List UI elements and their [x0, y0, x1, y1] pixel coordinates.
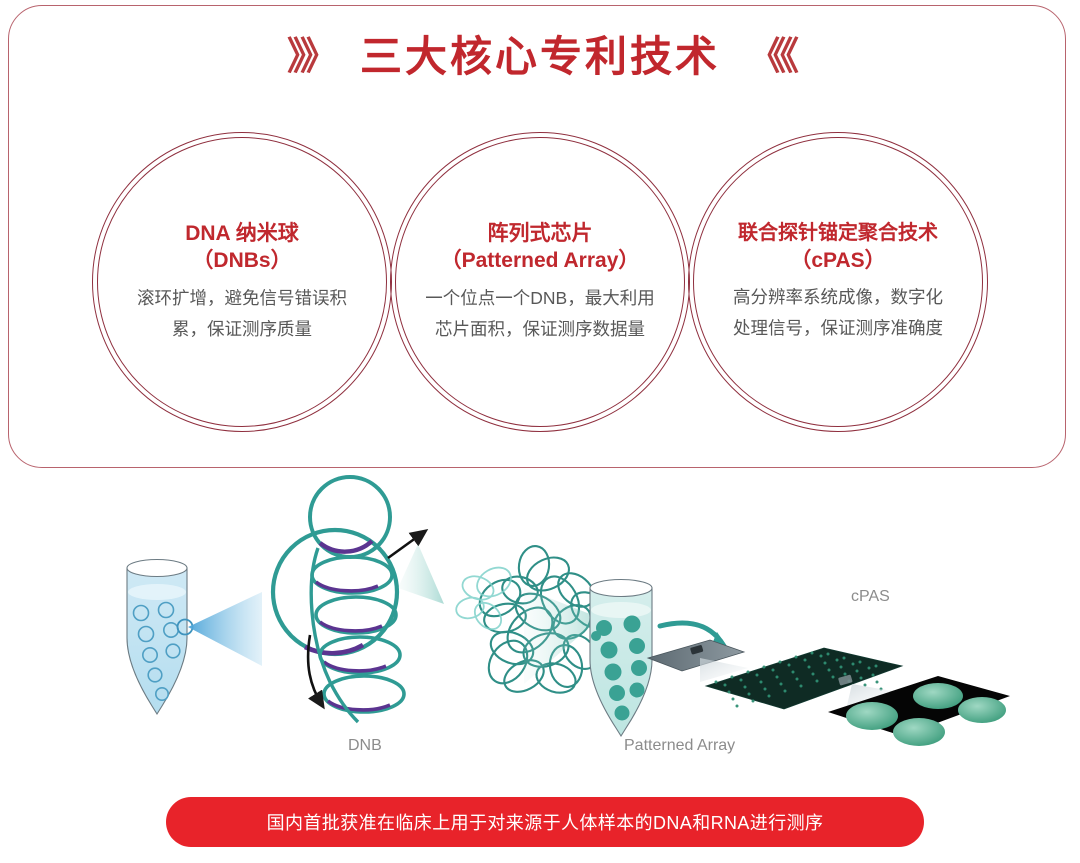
rolling-circle-coil	[310, 477, 404, 722]
zoom-beam-blue	[188, 592, 262, 666]
dnb-tube-teal	[590, 580, 652, 737]
circle-description: 滚环扩增，避免信号错误积累，保证测序质量	[122, 283, 362, 344]
circle-title: 联合探针锚定聚合技术	[738, 220, 938, 246]
diagram-label-patterned-array: Patterned Array	[624, 737, 735, 755]
chevron-left-icon: 《《	[748, 38, 793, 76]
feature-circle-dnbs: DNA 纳米球 （DNBs） 滚环扩增，避免信号错误积累，保证测序质量	[92, 132, 392, 432]
feature-circles: DNA 纳米球 （DNBs） 滚环扩增，避免信号错误积累，保证测序质量 阵列式芯…	[0, 132, 1080, 442]
feature-circle-cpas: 联合探针锚定聚合技术 （cPAS） 高分辨率系统成像，数字化处理信号，保证测序准…	[688, 132, 988, 432]
bottom-banner: 国内首批获准在临床上用于对来源于人体样本的DNA和RNA进行测序	[166, 797, 924, 847]
diagram-label-cpas: cPAS	[851, 588, 890, 606]
zoom-beam-teal-left	[398, 544, 444, 604]
page-title-row: 》》 三大核心专利技术 《《	[0, 36, 1080, 78]
sample-tube-blue	[127, 560, 193, 715]
circle-title: 阵列式芯片	[488, 220, 593, 248]
circle-title: DNA 纳米球	[185, 220, 299, 248]
diagram-label-dnb: DNB	[348, 737, 382, 755]
circle-description: 一个位点一个DNB，最大利用芯片面积，保证测序数据量	[422, 283, 658, 344]
circle-subtitle: （Patterned Array）	[441, 247, 640, 275]
banner-text: 国内首批获准在临床上用于对来源于人体样本的DNA和RNA进行测序	[267, 809, 824, 835]
circle-subtitle: （cPAS）	[790, 247, 885, 275]
circle-description: 高分辨率系统成像，数字化处理信号，保证测序准确度	[725, 282, 951, 343]
process-diagram	[0, 470, 1080, 800]
page-title: 三大核心专利技术	[360, 36, 720, 78]
zoom-beam-teal-right	[524, 588, 600, 684]
arrow-amplification	[308, 635, 322, 705]
poster-root: 》》 三大核心专利技术 《《 DNA 纳米球 （DNBs） 滚环扩增，避免信号错…	[0, 0, 1080, 863]
circle-subtitle: （DNBs）	[192, 247, 291, 275]
chevron-right-icon: 》》	[287, 38, 332, 76]
feature-circle-patterned-array: 阵列式芯片 （Patterned Array） 一个位点一个DNB，最大利用芯片…	[390, 132, 690, 432]
